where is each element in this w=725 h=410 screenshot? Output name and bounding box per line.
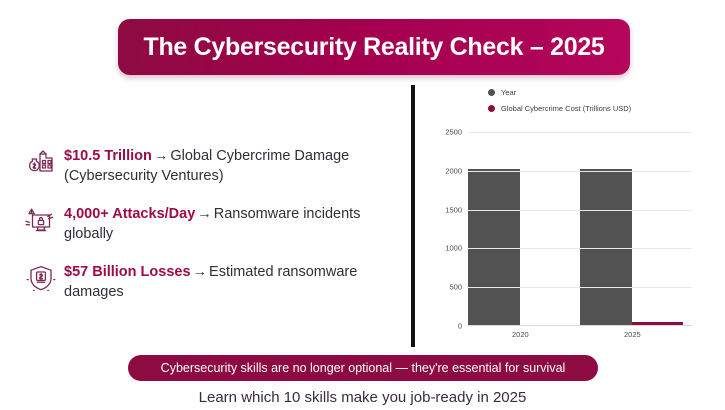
legend-label: Year bbox=[501, 88, 516, 97]
fact-arrow: → bbox=[191, 264, 210, 280]
y-axis-tick-label: 0 bbox=[458, 322, 462, 331]
y-axis-tick-label: 1000 bbox=[445, 244, 462, 253]
legend-label: Global Cybercrime Cost (Trillions USD) bbox=[501, 104, 631, 113]
legend-swatch-icon bbox=[488, 105, 495, 112]
gridline bbox=[468, 287, 692, 288]
axis-baseline bbox=[468, 325, 692, 326]
bar-group bbox=[468, 132, 580, 326]
fact-arrow: → bbox=[195, 206, 214, 222]
y-axis-tick-label: 1500 bbox=[445, 205, 462, 214]
shield-dollar-icon bbox=[24, 261, 58, 295]
gridline bbox=[468, 171, 692, 172]
x-axis-tick-label: 2025 bbox=[580, 330, 692, 339]
bar-groups bbox=[468, 132, 692, 326]
list-item: $10.5 Trillion→Global Cybercrime Damage … bbox=[24, 144, 404, 186]
fact-lead: $57 Billion Losses bbox=[64, 264, 191, 280]
fact-lead: 4,000+ Attacks/Day bbox=[64, 206, 195, 222]
fact-text: $57 Billion Losses→Estimated ransomware … bbox=[64, 260, 404, 302]
plot-area bbox=[468, 132, 692, 326]
y-axis-tick-label: 2000 bbox=[445, 166, 462, 175]
y-axis: 05001000150020002500 bbox=[432, 132, 466, 326]
x-axis-tick-label: 2020 bbox=[468, 330, 580, 339]
fact-arrow: → bbox=[152, 148, 171, 164]
bar-group bbox=[580, 132, 692, 326]
fact-lead: $10.5 Trillion bbox=[64, 148, 152, 164]
cta-banner: Cybersecurity skills are no longer optio… bbox=[128, 355, 598, 381]
gridline bbox=[468, 132, 692, 133]
y-axis-tick-label: 500 bbox=[449, 283, 462, 292]
bank-money-icon bbox=[24, 145, 58, 179]
chart-legend: Year Global Cybercrime Cost (Trillions U… bbox=[488, 88, 708, 120]
monitor-lock-alert-icon bbox=[24, 203, 58, 237]
gridline bbox=[468, 248, 692, 249]
fact-text: 4,000+ Attacks/Day→Ransomware incidents … bbox=[64, 202, 404, 244]
page-title: The Cybersecurity Reality Check – 2025 bbox=[143, 33, 604, 62]
vertical-divider bbox=[411, 85, 415, 347]
legend-item-cost: Global Cybercrime Cost (Trillions USD) bbox=[488, 104, 708, 113]
tagline: Learn which 10 skills make you job-ready… bbox=[0, 389, 725, 406]
fact-text: $10.5 Trillion→Global Cybercrime Damage … bbox=[64, 144, 404, 186]
legend-swatch-icon bbox=[488, 89, 495, 96]
title-banner: The Cybersecurity Reality Check – 2025 bbox=[118, 19, 630, 75]
y-axis-tick-label: 2500 bbox=[445, 128, 462, 137]
bar-chart: Year Global Cybercrime Cost (Trillions U… bbox=[432, 88, 694, 346]
facts-list: $10.5 Trillion→Global Cybercrime Damage … bbox=[24, 144, 404, 318]
cta-text: Cybersecurity skills are no longer optio… bbox=[161, 361, 566, 375]
list-item: $57 Billion Losses→Estimated ransomware … bbox=[24, 260, 404, 302]
list-item: 4,000+ Attacks/Day→Ransomware incidents … bbox=[24, 202, 404, 244]
plot-wrap: 05001000150020002500 20202025 bbox=[432, 132, 694, 346]
legend-item-year: Year bbox=[488, 88, 708, 97]
gridline bbox=[468, 210, 692, 211]
x-axis: 20202025 bbox=[468, 330, 692, 339]
